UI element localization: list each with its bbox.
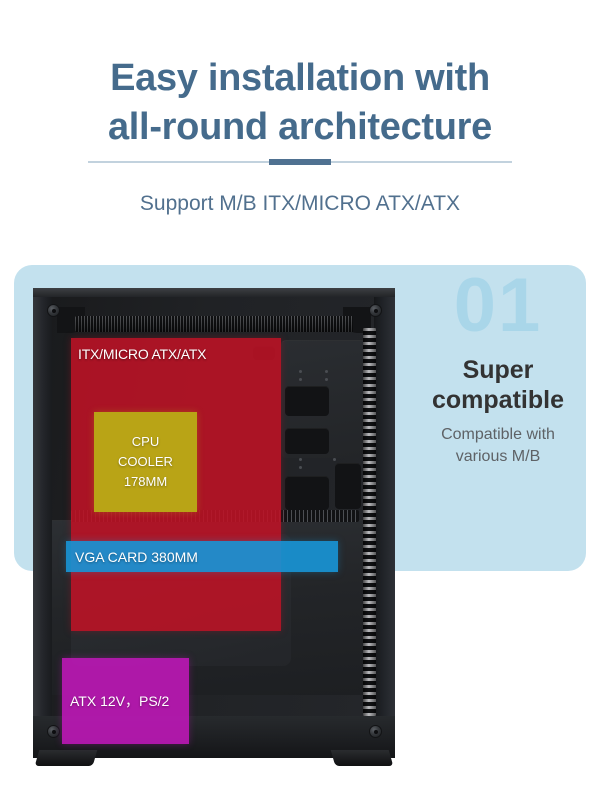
feature-description: Compatible with various M/B [410,424,586,467]
feature-description-line-1: Compatible with [410,424,586,446]
page-subtitle: Support M/B ITX/MICRO ATX/ATX [0,192,600,216]
front-mesh-shading [363,328,376,716]
feature-description-line-2: various M/B [410,446,586,468]
tray-cutout-2 [285,428,329,454]
feature-info-column: 01 Super compatible Compatible with vari… [410,270,586,467]
callout-cpu-cooler-line-1: CPU [132,432,159,452]
case-right-pillar [374,297,395,758]
case-foot-right [331,750,394,766]
tray-standoff-5 [299,458,302,461]
tray-cutout-4 [335,463,361,509]
tray-standoff-3 [325,370,328,373]
page-title-line-1: Easy installation with [0,54,600,103]
thumbscrew-top-left [47,304,60,317]
tray-cutout-1 [285,386,329,416]
callout-psu: ATX 12V，PS/2 [62,658,189,744]
top-mesh-shading [75,316,353,332]
tray-standoff-4 [325,378,328,381]
tray-standoff-6 [299,466,302,469]
case-left-pillar [33,297,52,758]
callout-psu-label: ATX 12V，PS/2 [70,691,169,711]
thumbscrew-bottom-left [47,725,60,738]
callout-motherboard-label: ITX/MICRO ATX/ATX [78,346,206,362]
feature-heading-line-2: compatible [410,386,586,416]
tray-cutout-3 [285,476,329,510]
case-top-lip [33,288,395,297]
callout-vga-card-label: VGA CARD 380MM [75,549,198,565]
callout-cpu-cooler: CPU COOLER 178MM [94,412,197,512]
thumbscrew-top-right [369,304,382,317]
callout-cpu-cooler-line-3: 178MM [124,472,167,492]
feature-number: 01 [410,270,586,342]
case-foot-left [35,750,98,766]
title-divider-accent [269,159,331,165]
thumbscrew-bottom-right [369,725,382,738]
title-divider [88,161,512,163]
callout-vga-card: VGA CARD 380MM [66,541,338,572]
feature-heading-line-1: Super [410,356,586,386]
tray-standoff-2 [299,378,302,381]
callout-cpu-cooler-line-2: COOLER [118,452,173,472]
tray-standoff-1 [299,370,302,373]
header-section: Easy installation with all-round archite… [0,0,600,258]
page-title: Easy installation with all-round archite… [0,54,600,151]
tray-standoff-7 [333,458,336,461]
feature-heading: Super compatible [410,356,586,415]
page-title-line-2: all-round architecture [0,103,600,152]
